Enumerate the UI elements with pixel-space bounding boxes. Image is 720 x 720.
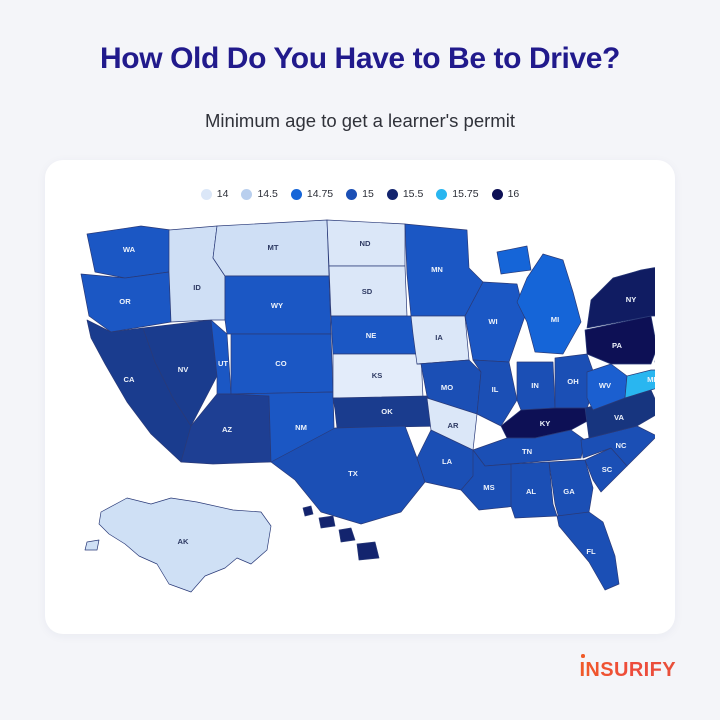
state-sd[interactable]	[329, 266, 407, 316]
legend-item-15[interactable]: 15	[346, 188, 374, 200]
infographic-page: How Old Do You Have to Be to Drive? Mini…	[0, 0, 720, 720]
legend-label-14: 14	[217, 188, 229, 200]
legend-label-14.75: 14.75	[307, 188, 333, 200]
us-choropleth-map: WAORCANVIDMTWYUTCOAZNMNDSDNEKSOKTXMNIAMO…	[65, 212, 655, 612]
state-ia[interactable]	[411, 316, 469, 364]
state-il[interactable]	[473, 360, 517, 426]
state-hi[interactable]	[319, 516, 335, 528]
insurify-wordmark: INSURIFY	[579, 659, 676, 682]
state-co[interactable]	[231, 334, 333, 394]
state-ak[interactable]	[99, 498, 271, 592]
state-in[interactable]	[517, 362, 555, 410]
us-map-svg: WAORCANVIDMTWYUTCOAZNMNDSDNEKSOKTXMNIAMO…	[65, 212, 655, 612]
legend-item-14.75[interactable]: 14.75	[291, 188, 333, 200]
insurify-logo: INSURIFY	[579, 659, 676, 682]
state-wa[interactable]	[87, 226, 171, 278]
state-mn[interactable]	[405, 224, 483, 316]
state-hi[interactable]	[303, 506, 313, 516]
state-ks[interactable]	[333, 354, 423, 398]
map-legend: 1414.514.751515.515.7516	[45, 188, 675, 200]
legend-swatch-15.5	[387, 189, 398, 200]
legend-label-15.75: 15.75	[452, 188, 478, 200]
legend-swatch-15	[346, 189, 357, 200]
page-subtitle: Minimum age to get a learner's permit	[0, 110, 720, 132]
page-title: How Old Do You Have to Be to Drive?	[0, 42, 720, 76]
state-fl[interactable]	[557, 512, 619, 590]
state-or[interactable]	[81, 272, 171, 332]
legend-label-14.5: 14.5	[257, 188, 277, 200]
legend-swatch-15.75	[436, 189, 447, 200]
map-card: 1414.514.751515.515.7516	[45, 160, 675, 634]
state-wy[interactable]	[225, 276, 331, 334]
legend-swatch-14	[201, 189, 212, 200]
state-ne[interactable]	[331, 316, 417, 354]
state-nd[interactable]	[327, 220, 405, 266]
state-mi[interactable]	[497, 246, 531, 274]
legend-swatch-16	[492, 189, 503, 200]
legend-item-15.75[interactable]: 15.75	[436, 188, 478, 200]
legend-swatch-14.75	[291, 189, 302, 200]
legend-item-15.5[interactable]: 15.5	[387, 188, 423, 200]
state-hi[interactable]	[357, 542, 379, 560]
state-hi[interactable]	[339, 528, 355, 542]
legend-label-16: 16	[508, 188, 520, 200]
legend-label-15: 15	[362, 188, 374, 200]
legend-item-14.5[interactable]: 14.5	[241, 188, 277, 200]
state-ak[interactable]	[85, 540, 99, 550]
state-mt[interactable]	[213, 220, 329, 276]
legend-swatch-14.5	[241, 189, 252, 200]
legend-item-14[interactable]: 14	[201, 188, 229, 200]
legend-item-16[interactable]: 16	[492, 188, 520, 200]
state-ky[interactable]	[501, 408, 593, 438]
legend-label-15.5: 15.5	[403, 188, 423, 200]
